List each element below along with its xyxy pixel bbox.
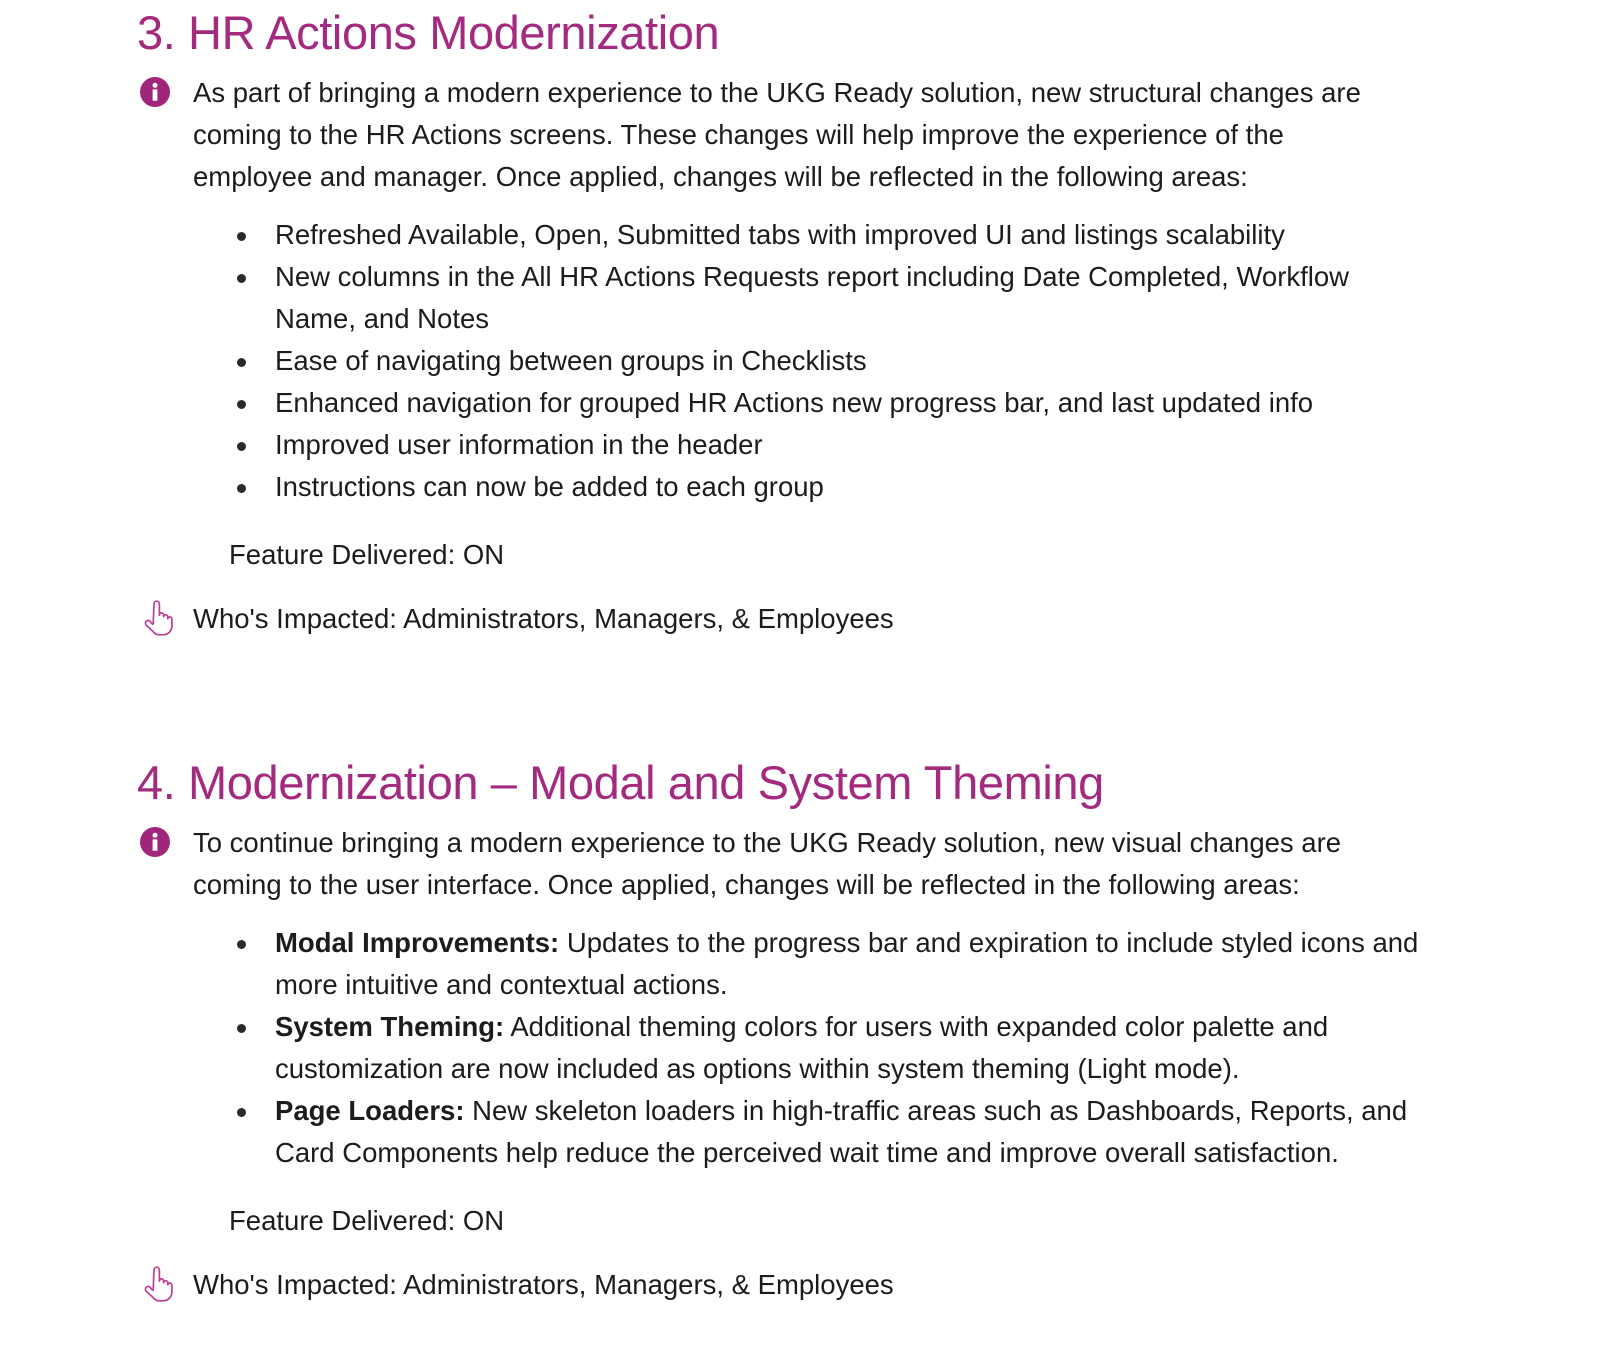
info-circle-icon — [139, 826, 171, 858]
document-page: 3. HR Actions Modernization As part of b… — [0, 0, 1600, 1371]
info-circle-icon — [139, 76, 171, 108]
list-item: New columns in the All HR Actions Reques… — [275, 256, 1430, 340]
list-item-label: System Theming: — [275, 1011, 504, 1042]
list-item-label: Page Loaders: — [275, 1095, 465, 1126]
list-item-text: New columns in the All HR Actions Reques… — [275, 261, 1349, 334]
section-4-impacted-row: Who's Impacted: Administrators, Managers… — [0, 1264, 1540, 1306]
pointing-hand-icon — [140, 600, 174, 636]
list-item: Enhanced navigation for grouped HR Actio… — [275, 382, 1430, 424]
section-heading-4: 4. Modernization – Modal and System Them… — [0, 752, 1540, 814]
list-item-text: Improved user information in the header — [275, 429, 763, 460]
section-hr-actions-modernization: 3. HR Actions Modernization As part of b… — [0, 0, 1540, 640]
section-4-impacted-text: Who's Impacted: Administrators, Managers… — [193, 1264, 1375, 1306]
pointing-hand-icon — [140, 1266, 174, 1302]
section-4-intro-text: To continue bringing a modern experience… — [193, 818, 1375, 906]
list-item: Improved user information in the header — [275, 424, 1430, 466]
list-item: Modal Improvements: Updates to the progr… — [275, 922, 1420, 1006]
list-item-text: Instructions can now be added to each gr… — [275, 471, 824, 502]
list-item: Page Loaders: New skeleton loaders in hi… — [275, 1090, 1420, 1174]
section-4-feature-list: Modal Improvements: Updates to the progr… — [0, 922, 1540, 1174]
section-4-intro-row: To continue bringing a modern experience… — [0, 818, 1540, 906]
list-item: Refreshed Available, Open, Submitted tab… — [275, 214, 1430, 256]
section-3-impacted-row: Who's Impacted: Administrators, Managers… — [0, 598, 1540, 640]
list-item: Ease of navigating between groups in Che… — [275, 340, 1430, 382]
list-item: Instructions can now be added to each gr… — [275, 466, 1430, 508]
list-item: System Theming: Additional theming color… — [275, 1006, 1420, 1090]
section-3-impacted-text: Who's Impacted: Administrators, Managers… — [193, 598, 1375, 640]
list-item-text: Enhanced navigation for grouped HR Actio… — [275, 387, 1313, 418]
section-heading-3: 3. HR Actions Modernization — [0, 2, 1540, 64]
section-3-intro-row: As part of bringing a modern experience … — [0, 68, 1540, 198]
list-item-text: Ease of navigating between groups in Che… — [275, 345, 867, 376]
section-3-feature-list: Refreshed Available, Open, Submitted tab… — [0, 214, 1540, 508]
list-item-label: Modal Improvements: — [275, 927, 559, 958]
section-4-feature-delivered: Feature Delivered: ON — [0, 1200, 1540, 1242]
section-3-intro-text: As part of bringing a modern experience … — [193, 68, 1375, 198]
section-modernization-modal-system-theming: 4. Modernization – Modal and System Them… — [0, 640, 1540, 1306]
list-item-text: Refreshed Available, Open, Submitted tab… — [275, 219, 1285, 250]
section-3-feature-delivered: Feature Delivered: ON — [0, 534, 1540, 576]
